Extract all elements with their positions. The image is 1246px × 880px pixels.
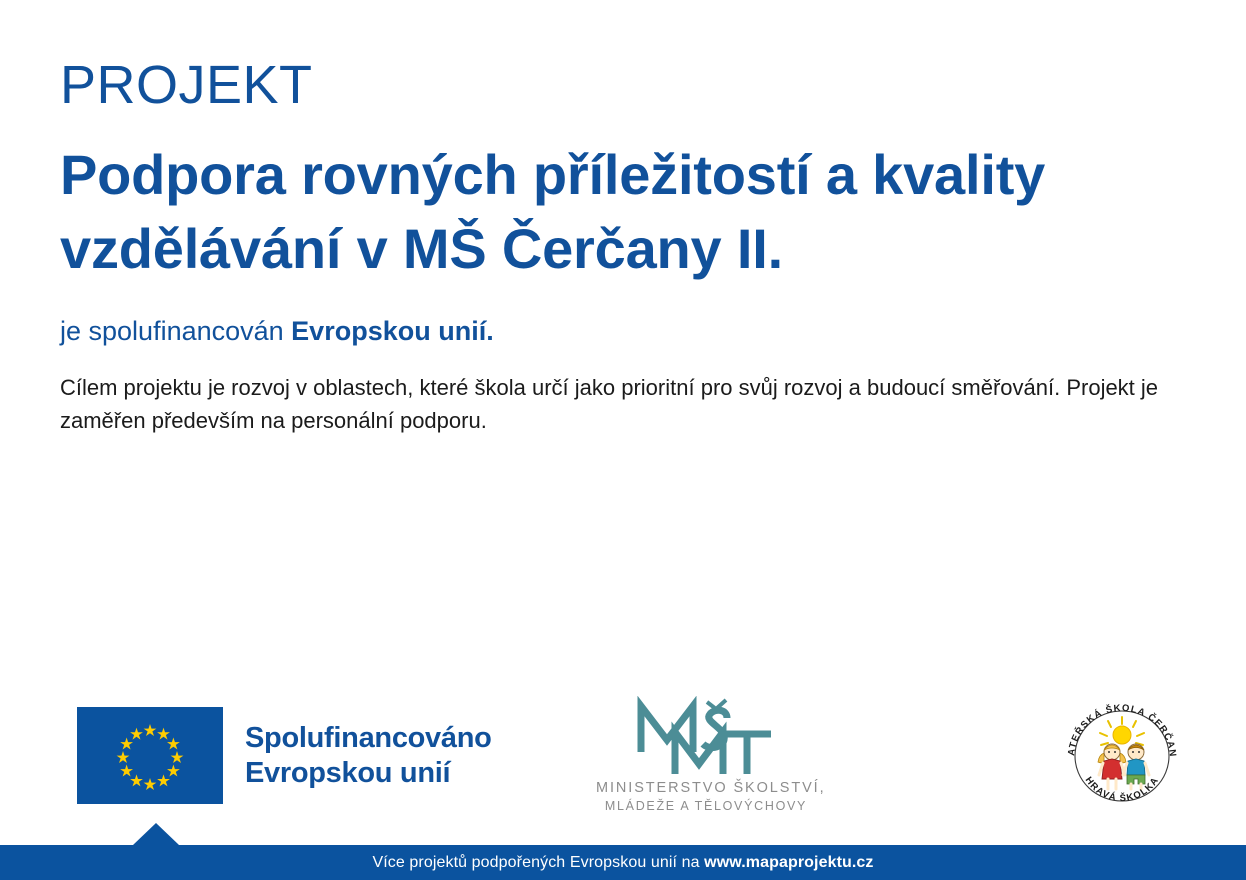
msmt-ministry-logo: MINISTERSTVO ŠKOLSTVÍ, MLÁDEŽE A TĚLOVÝC… — [596, 696, 816, 813]
school-logo: MATEŘSKÁ ŠKOLA ČERČANY HRAVÁ ŠKOLKA — [1058, 693, 1186, 815]
funding-statement-emphasis: Evropskou unií. — [291, 316, 494, 346]
funding-statement: je spolufinancován Evropskou unií. — [60, 314, 1180, 349]
bar-arrow-indicator — [133, 823, 179, 845]
eu-cofunding-text: Spolufinancováno Evropskou unií — [245, 721, 492, 789]
eu-cofunding-text-line2: Evropskou unií — [245, 756, 492, 790]
funding-statement-plain: je spolufinancován — [60, 316, 291, 346]
footer-url[interactable]: www.mapaprojektu.cz — [704, 854, 873, 871]
project-title: Podpora rovných příležitostí a kvality v… — [60, 138, 1150, 286]
project-description: Cílem projektu je rozvoj v oblastech, kt… — [60, 371, 1170, 438]
poster-content: PROJEKT Podpora rovných příležitostí a k… — [60, 58, 1180, 438]
msmt-name-line1: MINISTERSTVO ŠKOLSTVÍ, — [596, 780, 816, 796]
msmt-name-line2: MLÁDEŽE A TĚLOVÝCHOVY — [596, 799, 816, 813]
eu-cofunding-logo: Spolufinancováno Evropskou unií — [77, 707, 492, 804]
eu-cofunding-text-line1: Spolufinancováno — [245, 721, 492, 755]
footer-bar: Více projektů podpořených Evropskou unií… — [0, 845, 1246, 880]
footer-text-plain: Více projektů podpořených Evropskou unií… — [372, 854, 704, 871]
footer-text: Více projektů podpořených Evropskou unií… — [372, 854, 873, 872]
european-union-flag-icon — [77, 707, 223, 804]
project-poster: PROJEKT Podpora rovných příležitostí a k… — [0, 0, 1246, 880]
logo-strip: Spolufinancováno Evropskou unií — [0, 690, 1246, 820]
msmt-monogram-icon — [596, 696, 816, 778]
eyebrow-label: PROJEKT — [60, 58, 1180, 112]
